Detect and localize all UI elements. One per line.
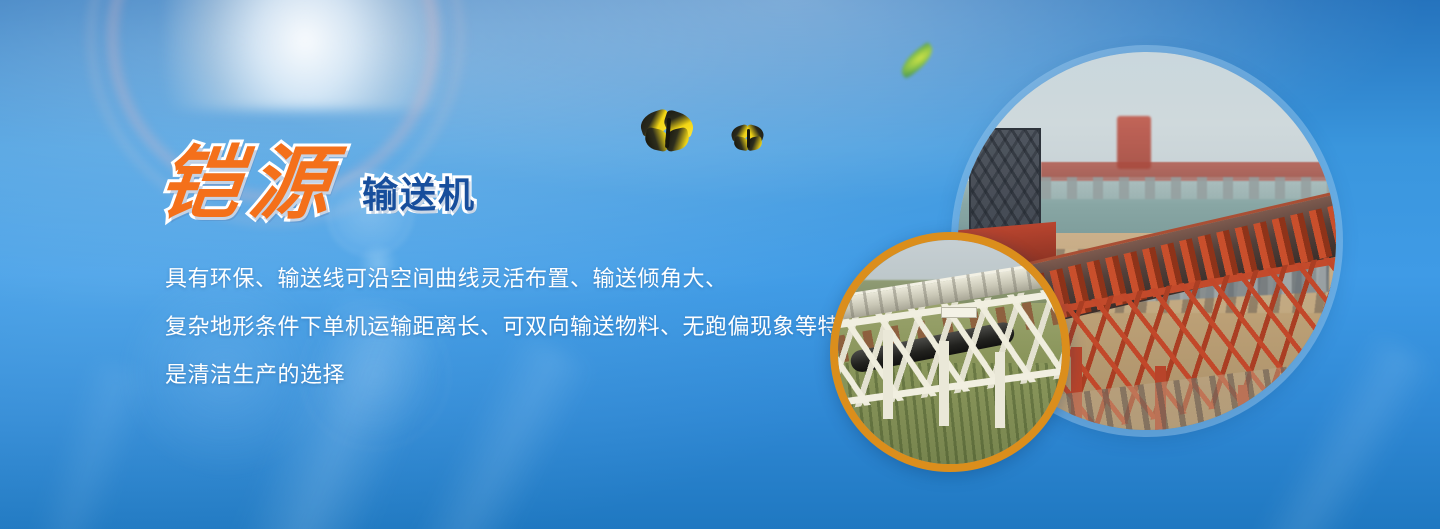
ship-loader-crane	[1117, 116, 1151, 169]
description-line-1: 具有环保、输送线可沿空间曲线灵活布置、输送倾角大、	[165, 255, 955, 303]
truss-vertical-post	[883, 330, 893, 420]
butterfly-small-icon	[731, 126, 765, 152]
pier-pylons	[1041, 177, 1336, 200]
brand-name: 铠源	[156, 143, 344, 223]
product-name: 输送机	[362, 177, 476, 213]
hero-banner: 铠源 输送机 具有环保、输送线可沿空间曲线灵活布置、输送倾角大、 复杂地形条件下…	[0, 0, 1440, 529]
banner-copy: 铠源 输送机 具有环保、输送线可沿空间曲线灵活布置、输送倾角大、 复杂地形条件下…	[0, 0, 900, 529]
equipment-nameplate	[941, 307, 977, 318]
photo-small	[830, 232, 1070, 472]
photo-small-scene	[838, 240, 1062, 464]
butterfly-body	[747, 129, 750, 148]
leaf-icon	[896, 42, 938, 80]
brand-lockup: 铠源 输送机	[160, 143, 476, 223]
butterfly-large-icon	[640, 112, 696, 154]
truss-vertical-post	[939, 341, 949, 426]
truss-vertical-post	[995, 352, 1005, 428]
